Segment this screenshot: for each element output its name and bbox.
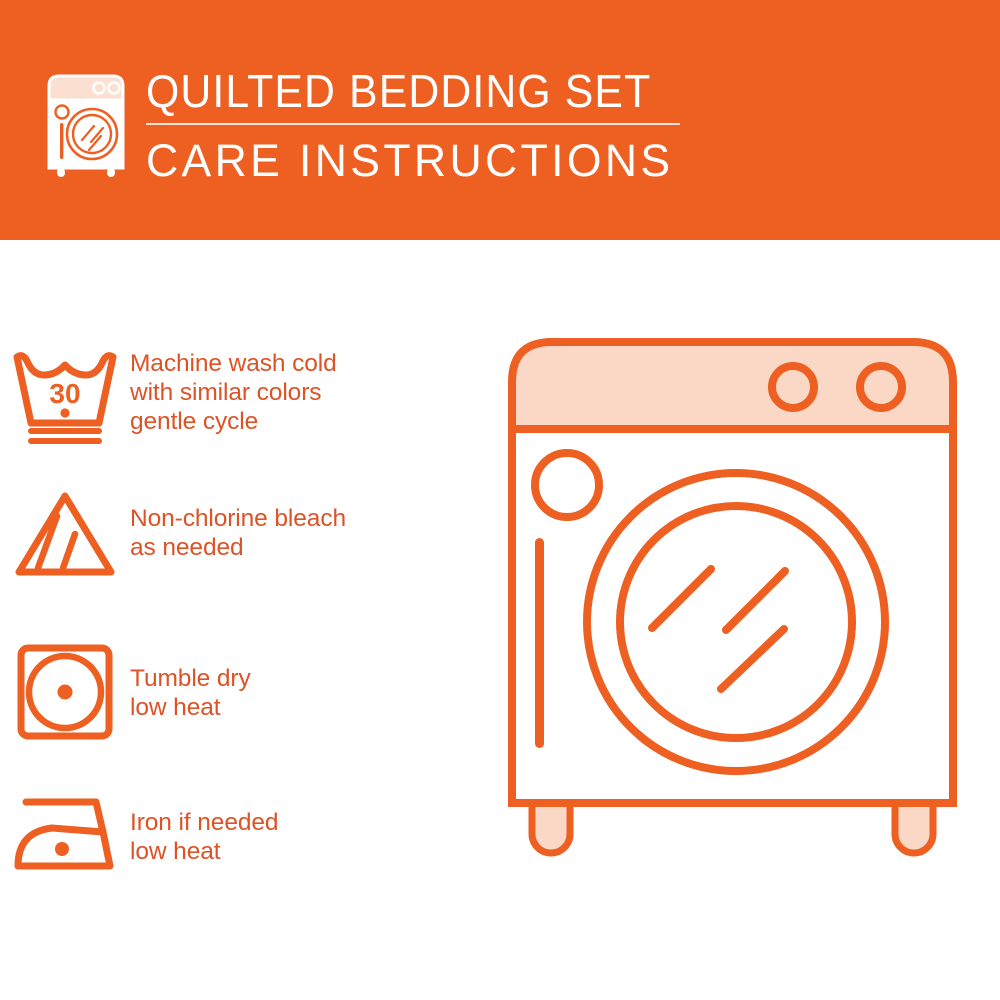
care-text-machine-wash: Machine wash cold with similar colors ge… [130,343,337,436]
care-text-line: Iron if needed [130,808,278,837]
header-title-group: QUILTED BEDDING SET CARE INSTRUCTIONS [146,66,706,187]
care-text-line: with similar colors [130,378,337,407]
care-text-iron: Iron if needed low heat [130,790,278,866]
washing-machine-logo-icon [45,72,131,178]
care-text-tumble-dry: Tumble dry low heat [130,640,251,722]
washing-machine-illustration [495,330,985,930]
iron-icon [0,790,130,876]
page-subtitle: CARE INSTRUCTIONS [146,135,700,187]
care-instructions-page: QUILTED BEDDING SET CARE INSTRUCTIONS 30… [0,0,1000,1000]
wash-tub-icon: 30 [0,343,130,449]
care-row-iron: Iron if needed low heat [0,790,500,876]
care-instruction-list: 30 Machine wash cold with similar colors… [0,240,500,1000]
control-panel [512,342,953,429]
care-text-bleach: Non-chlorine bleach as needed [130,488,346,562]
wash-temperature-label: 30 [49,378,80,409]
care-row-tumble-dry: Tumble dry low heat [0,640,500,742]
header-banner: QUILTED BEDDING SET CARE INSTRUCTIONS [0,0,1000,240]
care-text-line: low heat [130,693,251,722]
title-divider [146,123,680,125]
care-text-line: Machine wash cold [130,349,337,378]
care-text-line: Tumble dry [130,664,251,693]
tumble-dry-icon [0,640,130,742]
bleach-triangle-icon [0,488,130,578]
care-text-line: low heat [130,837,278,866]
care-text-line: Non-chlorine bleach [130,504,346,533]
page-title: QUILTED BEDDING SET [146,66,667,116]
care-text-line: as needed [130,533,346,562]
care-text-line: gentle cycle [130,407,337,436]
care-row-bleach: Non-chlorine bleach as needed [0,488,500,578]
door-handle [535,538,544,748]
care-row-machine-wash: 30 Machine wash cold with similar colors… [0,343,500,449]
